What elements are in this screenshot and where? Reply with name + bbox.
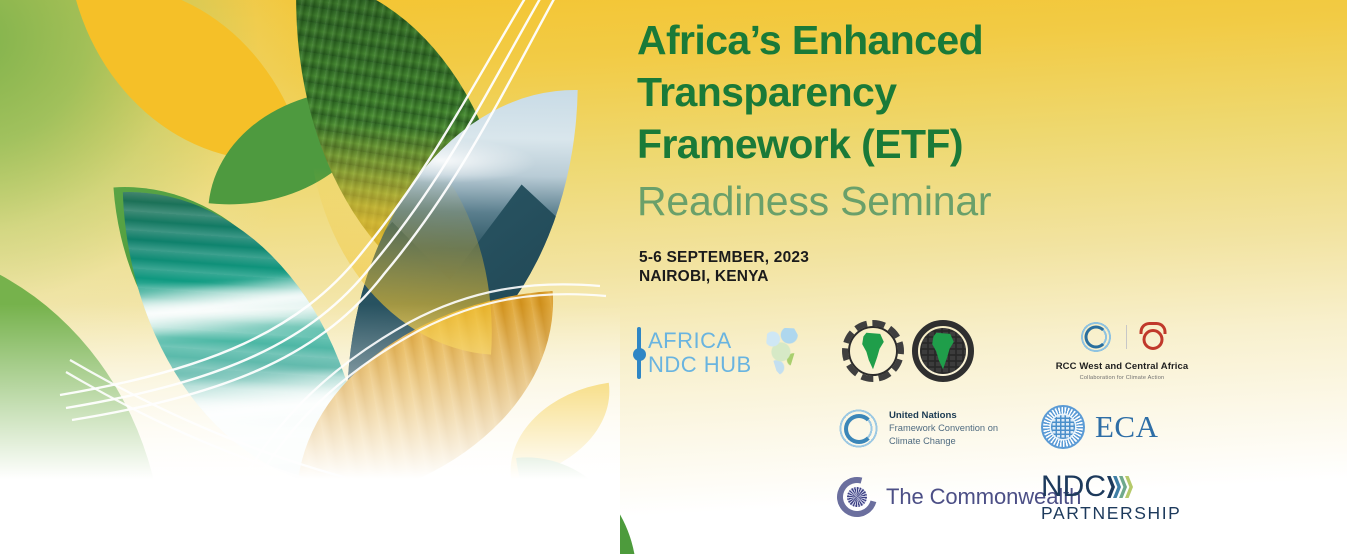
- rcc-title: RCC West and Central Africa: [1042, 361, 1202, 372]
- africa-map-icon: [757, 325, 809, 381]
- unfccc-line-1: United Nations: [889, 409, 998, 422]
- ndc-partnership-line-1: NDC: [1041, 472, 1106, 502]
- event-banner: Africa’s Enhanced Transparency Framework…: [0, 0, 1347, 554]
- ndc-hub-bar-icon: [637, 327, 641, 379]
- logo-un-eca: ECA: [1041, 405, 1159, 449]
- afdb-globe-emblem-icon: [912, 320, 974, 382]
- title-line-3: Framework (ETF): [637, 118, 1107, 170]
- ndc-partnership-top-row: NDC: [1041, 472, 1181, 502]
- ndc-hub-line-1: AFRICA: [648, 329, 752, 353]
- solid-green-leaf-bottom-right: [516, 447, 636, 554]
- event-details: 5-6 SEPTEMBER, 2023 NAIROBI, KENYA: [639, 248, 809, 286]
- logo-divider: [1126, 325, 1127, 349]
- ndc-hub-wordmark: AFRICA NDC HUB: [648, 329, 752, 377]
- page-subtitle: Readiness Seminar: [637, 176, 991, 226]
- logo-unfccc: United Nations Framework Convention on C…: [837, 407, 998, 450]
- african-union-emblem-icon: [842, 320, 904, 382]
- rcc-marks: [1042, 320, 1202, 354]
- chevron-icon: [1107, 476, 1115, 498]
- title-line-2: Transparency: [637, 66, 1107, 118]
- event-location: NAIROBI, KENYA: [639, 267, 809, 286]
- united-nations-emblem-icon: [1041, 405, 1085, 449]
- logo-ndc-partnership: NDC PARTNERSHIP: [1041, 472, 1181, 524]
- ndc-partnership-line-2: PARTNERSHIP: [1041, 503, 1181, 524]
- ndc-hub-line-2: NDC HUB: [648, 353, 752, 377]
- unfccc-circles-icon: [1079, 320, 1113, 354]
- page-title: Africa’s Enhanced Transparency Framework…: [637, 14, 1107, 170]
- commonwealth-globe-icon: [837, 477, 877, 517]
- rcc-tagline: Collaboration for Climate Action: [1042, 375, 1202, 381]
- event-date: 5-6 SEPTEMBER, 2023: [639, 248, 809, 267]
- logo-africa-ndc-hub: AFRICA NDC HUB: [637, 325, 809, 381]
- unfccc-line-3: Climate Change: [889, 435, 998, 448]
- unfccc-line-2: Framework Convention on: [889, 422, 998, 435]
- logo-rcc-west-and-central-africa: RCC West and Central Africa Collaboratio…: [1042, 320, 1202, 381]
- unfccc-circles-icon: [837, 407, 880, 450]
- chevron-arrows-icon: [1109, 476, 1133, 498]
- eca-wordmark: ECA: [1095, 409, 1159, 445]
- unfccc-wordmark: United Nations Framework Convention on C…: [889, 409, 998, 448]
- title-line-1: Africa’s Enhanced: [637, 14, 1107, 66]
- rcc-red-icon: [1140, 322, 1166, 352]
- commonwealth-globe-core: [847, 487, 867, 507]
- banner-content-column: Africa’s Enhanced Transparency Framework…: [637, 0, 1347, 554]
- logo-african-union-group: [842, 320, 974, 382]
